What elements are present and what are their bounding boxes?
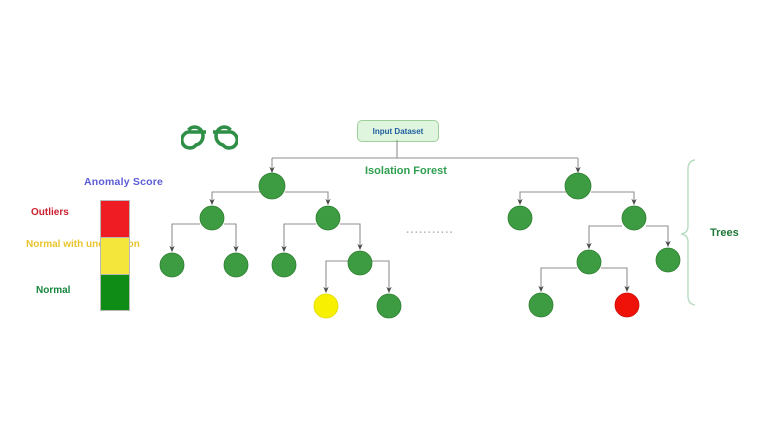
tree-graphics [0, 0, 768, 432]
edge-t2b-l [589, 226, 622, 246]
edge-t1root-a [212, 192, 260, 202]
edge-t2root-b [591, 192, 634, 202]
tree-node-t2-b [622, 206, 646, 230]
tree-node-t2-root [565, 173, 591, 199]
tree-node-t1-b-r [348, 251, 372, 275]
tree-node-t1-leaf-g [377, 294, 401, 318]
edge-t1br-yellow [326, 261, 348, 290]
edge-t1br-green [372, 261, 389, 290]
edge-t2bl-red [601, 268, 627, 289]
edge-t2root-a [520, 192, 566, 202]
edge-t1a-r [224, 224, 236, 249]
edge-t2bl-green [541, 268, 577, 289]
trees-bracket [681, 160, 695, 305]
edge-t1b-l [284, 224, 316, 249]
edge-t1b-r [340, 224, 360, 247]
tree-node-t2-b-l [577, 250, 601, 274]
tree-node-t2-b-r [656, 248, 680, 272]
tree-node-t1-b [316, 206, 340, 230]
tree-node-t2-leaf-r [615, 293, 639, 317]
tree-node-t1-a-l [160, 253, 184, 277]
tree-node-t1-a-r [224, 253, 248, 277]
tree-node-t1-leaf-y [314, 294, 338, 318]
tree-node-t2-a [508, 206, 532, 230]
tree-node-t1-root [259, 173, 285, 199]
edge-t1a-l [172, 224, 200, 249]
tree-node-t1-a [200, 206, 224, 230]
edge-t2b-r [646, 226, 668, 244]
nodes-group [160, 173, 680, 318]
tree-node-t2-leaf-g [529, 293, 553, 317]
edge-t1root-b [285, 192, 328, 202]
diagram-canvas: Anomaly Score Outliers Normal with uncom… [0, 0, 768, 432]
tree-node-t1-b-l [272, 253, 296, 277]
